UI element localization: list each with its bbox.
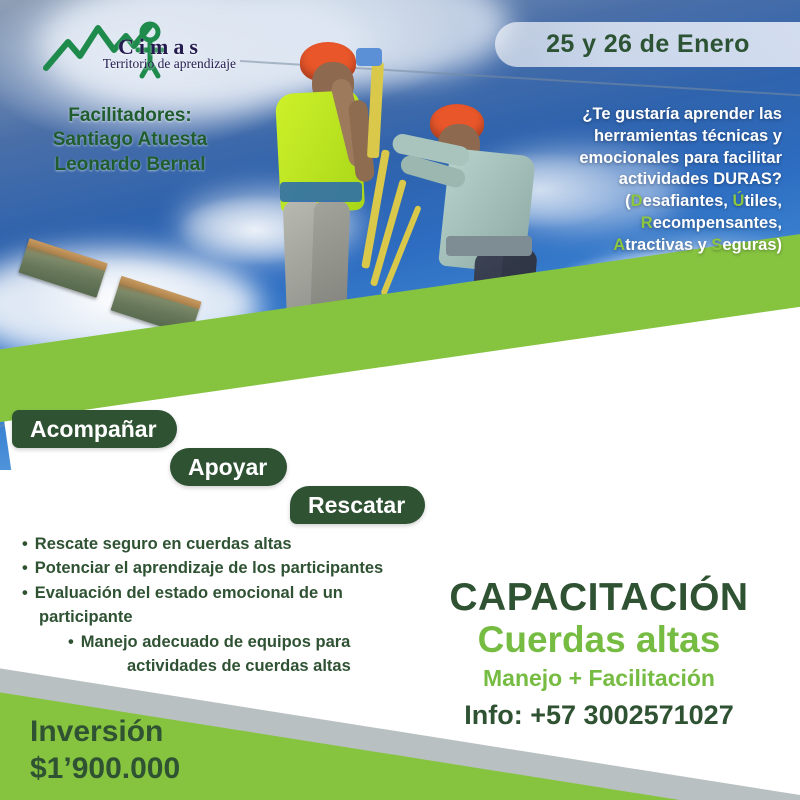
- acronym-letter-a: A: [613, 236, 625, 254]
- acronym-line-1: (Desafiantes, Útiles,: [492, 191, 782, 213]
- bullet-list: Rescate seguro en cuerdas altas Potencia…: [22, 533, 452, 680]
- acronym-word-a: tractivas y: [625, 236, 711, 254]
- price-block: Inversión $1’900.000: [30, 714, 180, 787]
- question-line-1: ¿Te gustaría aprender las: [492, 104, 782, 126]
- facilitators-block: Facilitadores: Santiago Atuesta Leonardo…: [0, 104, 260, 177]
- carabiner: [356, 48, 382, 66]
- acronym-letter-d: D: [631, 192, 643, 210]
- action-tag-rescatar: Rescatar: [290, 486, 425, 524]
- poster-canvas: Cimas Territorio de aprendizaje 25 y 26 …: [0, 0, 800, 800]
- page-title: CAPACITACIÓN: [414, 578, 784, 617]
- bullet-item: Manejo adecuado de equipos para: [22, 631, 452, 654]
- contact-info[interactable]: Info: +57 3002571027: [414, 699, 784, 731]
- paren-close: ): [777, 236, 783, 254]
- bullet-item-continuation: actividades de cuerdas altas: [22, 655, 452, 678]
- title-block: CAPACITACIÓN Cuerdas altas Manejo + Faci…: [414, 578, 784, 731]
- date-banner: 25 y 26 de Enero: [495, 22, 800, 67]
- facilitator-name-2: Leonardo Bernal: [0, 153, 260, 177]
- price-amount: $1’900.000: [30, 751, 180, 788]
- acronym-word-r: ecompensantes,: [653, 214, 782, 232]
- question-line-3: emocionales para facilitar: [492, 148, 782, 170]
- acronym-word-d: esafiantes,: [643, 192, 733, 210]
- bullet-item: Rescate seguro en cuerdas altas: [22, 533, 452, 556]
- question-block: ¿Te gustaría aprender las herramientas t…: [492, 104, 782, 256]
- question-line-4: actividades DURAS?: [492, 169, 782, 191]
- acronym-letter-s: S: [711, 236, 722, 254]
- question-line-2: herramientas técnicas y: [492, 126, 782, 148]
- acronym-line-3: Atractivas y Seguras): [492, 235, 782, 257]
- page-subtitle: Cuerdas altas: [414, 619, 784, 660]
- acronym-letter-r: R: [641, 214, 653, 232]
- price-label: Inversión: [30, 714, 180, 751]
- acronym-letter-u: Ú: [732, 192, 744, 210]
- action-tag-apoyar: Apoyar: [170, 448, 287, 486]
- logo-tagline: Territorio de aprendizaje: [40, 56, 236, 72]
- bullet-list-ul: Rescate seguro en cuerdas altas Potencia…: [22, 533, 452, 679]
- bullet-item-continuation: participante: [22, 606, 452, 629]
- bullet-item: Evaluación del estado emocional de un: [22, 582, 452, 605]
- action-tag-acompanar: Acompañar: [12, 410, 177, 448]
- facilitators-label: Facilitadores:: [0, 104, 260, 128]
- bullet-item: Potenciar el aprendizaje de los particip…: [22, 557, 452, 580]
- page-tertiary-title: Manejo + Facilitación: [414, 665, 784, 693]
- acronym-line-2: Recompensantes,: [492, 213, 782, 235]
- harness: [280, 182, 362, 202]
- acronym-word-u: tiles,: [744, 192, 782, 210]
- acronym-word-s: eguras: [722, 236, 776, 254]
- facilitator-name-1: Santiago Atuesta: [0, 128, 260, 152]
- date-text: 25 y 26 de Enero: [546, 30, 774, 59]
